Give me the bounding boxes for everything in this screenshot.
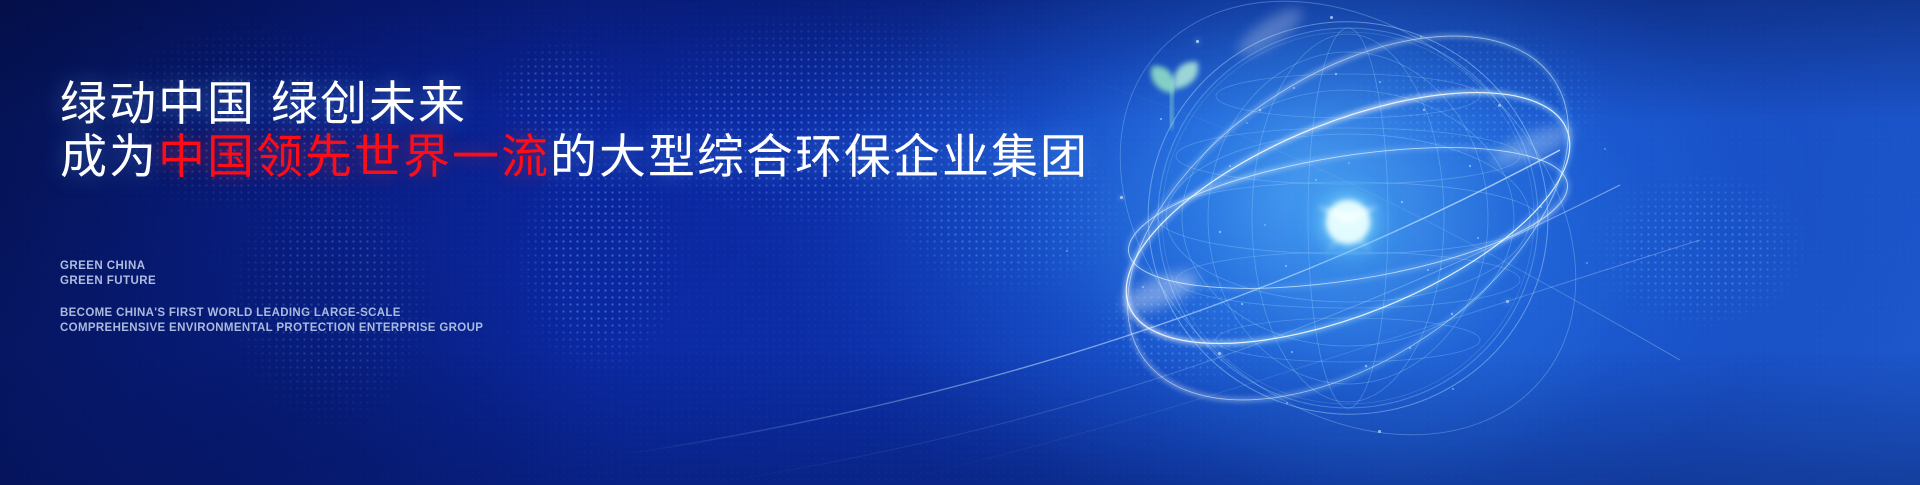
globe-svg [1080,0,1620,485]
subtitle-english-line-2: GREEN FUTURE [60,274,156,289]
headline-line-1: 绿动中国 绿创未来 [60,78,467,131]
headline-highlight: 中国领先世界一流 [158,130,550,183]
subtitle-english: GREEN CHINA GREEN FUTURE [60,259,156,289]
subtitle-english-line-1: GREEN CHINA [60,259,156,274]
globe-graphic [1080,0,1620,485]
tagline-english: BECOME CHINA'S FIRST WORLD LEADING LARGE… [60,306,483,336]
hero-banner: 绿动中国 绿创未来 成为中国领先世界一流的大型综合环保企业集团 GREEN CH… [0,0,1920,485]
headline-line-2: 成为中国领先世界一流的大型综合环保企业集团 [60,131,1089,184]
tagline-english-line-1: BECOME CHINA'S FIRST WORLD LEADING LARGE… [60,306,483,321]
tagline-english-line-2: COMPREHENSIVE ENVIRONMENTAL PROTECTION E… [60,321,483,336]
headline-suffix: 的大型综合环保企业集团 [550,130,1089,183]
headline-prefix: 成为 [60,130,158,183]
world-map-dots [0,0,1920,485]
